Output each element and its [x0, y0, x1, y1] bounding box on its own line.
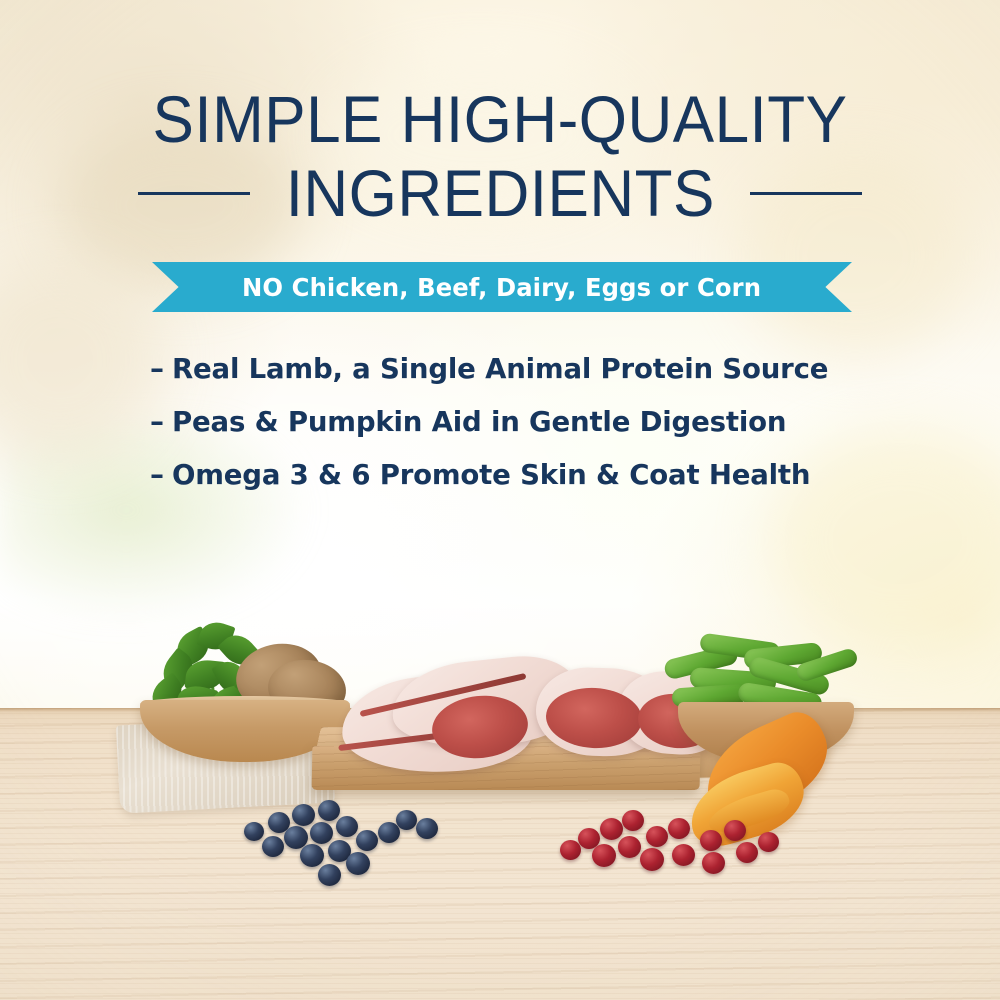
- food-photograph: [0, 560, 1000, 1000]
- rule-left-decoration: [138, 192, 250, 195]
- bullet-dash-icon: –: [150, 405, 172, 438]
- list-item: – Omega 3 & 6 Promote Skin & Coat Health: [150, 458, 910, 491]
- list-item: – Peas & Pumpkin Aid in Gentle Digestion: [150, 405, 910, 438]
- headline-line-2-row: INGREDIENTS: [0, 160, 1000, 226]
- no-ingredients-ribbon: NO Chicken, Beef, Dairy, Eggs or Corn: [152, 262, 852, 312]
- headline-line-1: SIMPLE HIGH-QUALITY: [30, 86, 970, 152]
- list-item-label: Peas & Pumpkin Aid in Gentle Digestion: [172, 405, 786, 438]
- ingredients-poster: SIMPLE HIGH-QUALITY INGREDIENTS NO Chick…: [0, 0, 1000, 1000]
- bullet-dash-icon: –: [150, 458, 172, 491]
- list-item-label: Omega 3 & 6 Promote Skin & Coat Health: [172, 458, 810, 491]
- ribbon-label: NO Chicken, Beef, Dairy, Eggs or Corn: [242, 273, 761, 302]
- headline-line-2: INGREDIENTS: [285, 160, 714, 226]
- list-item: – Real Lamb, a Single Animal Protein Sou…: [150, 352, 910, 385]
- bullet-dash-icon: –: [150, 352, 172, 385]
- benefits-list: – Real Lamb, a Single Animal Protein Sou…: [150, 352, 910, 511]
- rule-right-decoration: [750, 192, 862, 195]
- list-item-label: Real Lamb, a Single Animal Protein Sourc…: [172, 352, 828, 385]
- headline: SIMPLE HIGH-QUALITY INGREDIENTS: [0, 86, 1000, 226]
